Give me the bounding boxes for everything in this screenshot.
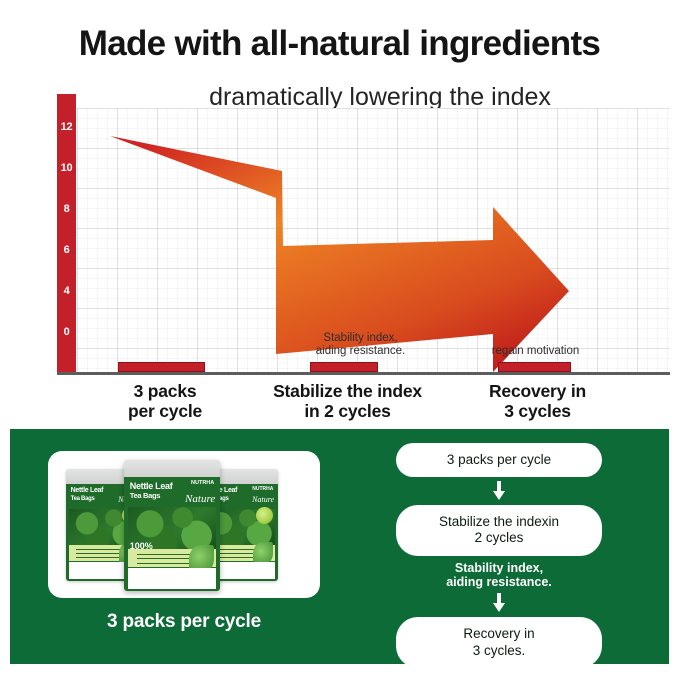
category-label-3-line2: 3 cycles [455,401,620,421]
bag-bullet-line [137,563,195,564]
x-axis-line [57,372,670,375]
flow-pill-1-line1: 3 packs per cycle [447,452,551,467]
bag-footer-center [128,568,216,589]
category-label-3-line1: Recovery in [455,381,620,401]
flow-pill-3-line1: Recovery in [463,626,534,641]
flow-pill-3-line2: 3 cycles. [473,643,526,658]
annotation-stability-index: Stability index, aiding resistance. [258,332,463,358]
bag-seal-center [124,460,220,477]
axis-bar-2 [310,362,378,372]
bag-script-center: Nature [185,493,215,505]
annotation-regain-line1: regain motivation [438,345,633,358]
category-label-1-line1: 3 packs [75,381,255,401]
bag-script-right: Nature [252,495,274,504]
flow-note-stability-line2: aiding resistance. [446,575,552,589]
product-image-card: Nettle Leaf Tea Bags Nature Ne [48,451,320,598]
y-tick-4: 4 [55,285,78,297]
flow-note-regain: regain motivation [396,673,602,687]
flow-note-regain-line1: regain motivation [447,673,551,687]
bag-bullet-line [76,557,121,558]
y-tick-12: 12 [55,121,78,133]
annotation-stability-line1: Stability index, [258,332,463,345]
flow-note-stability-line1: Stability index, [455,561,543,575]
product-bag-center: Nettle Leaf Tea Bags NUTRHA Nature 100% [124,460,220,591]
bag-brand-center: NUTRHA [191,480,214,486]
bag-brand-right: NUTRHA [252,486,273,492]
annotation-regain-motivation: regain motivation [438,345,633,358]
category-label-1-line2: per cycle [75,401,255,421]
category-label-3: Recovery in 3 cycles [455,381,620,421]
flow-arrow-2 [396,593,602,613]
category-label-1: 3 packs per cycle [75,381,255,421]
y-tick-0: 0 [55,326,78,338]
flow-pill-2-line2: 2 cycles [475,530,524,545]
down-arrow-icon [491,481,507,501]
annotation-stability-line2: aiding resistance. [258,345,463,358]
down-arrow-icon [491,593,507,613]
category-label-2-line1: Stabilize the index [250,381,445,401]
flow-arrow-1 [396,481,602,501]
flow-pill-1[interactable]: 3 packs per cycle [396,443,602,477]
flow-pill-3[interactable]: Recovery in 3 cycles. [396,617,602,667]
bag-body-center: Nettle Leaf Tea Bags NUTRHA Nature 100% [124,477,220,591]
bag-title-center: Nettle Leaf Tea Bags [130,482,173,501]
y-tick-8: 8 [55,203,78,215]
flow-note-stability: Stability index, aiding resistance. [396,561,602,590]
flow-pill-2-line1: Stabilize the indexin [439,514,559,529]
bag-title-left: Nettle Leaf Tea Bags [71,487,104,502]
treatment-flow: 3 packs per cycle Stabilize the indexin … [396,443,602,689]
y-tick-6: 6 [55,244,78,256]
axis-bar-1 [118,362,205,372]
axis-bar-3 [498,362,571,372]
flow-pill-2[interactable]: Stabilize the indexin 2 cycles [396,505,602,555]
index-decline-chart: 12 10 8 6 4 0 Stability index, aiding re… [0,100,679,430]
packs-caption: 3 packs per cycle [30,611,338,633]
product-summary-panel: Nettle Leaf Tea Bags Nature Ne [10,429,669,664]
page-title: Made with all-natural ingredients [0,26,679,63]
category-label-2-line2: in 2 cycles [250,401,445,421]
category-label-2: Stabilize the index in 2 cycles [250,381,445,421]
y-tick-10: 10 [55,162,78,174]
